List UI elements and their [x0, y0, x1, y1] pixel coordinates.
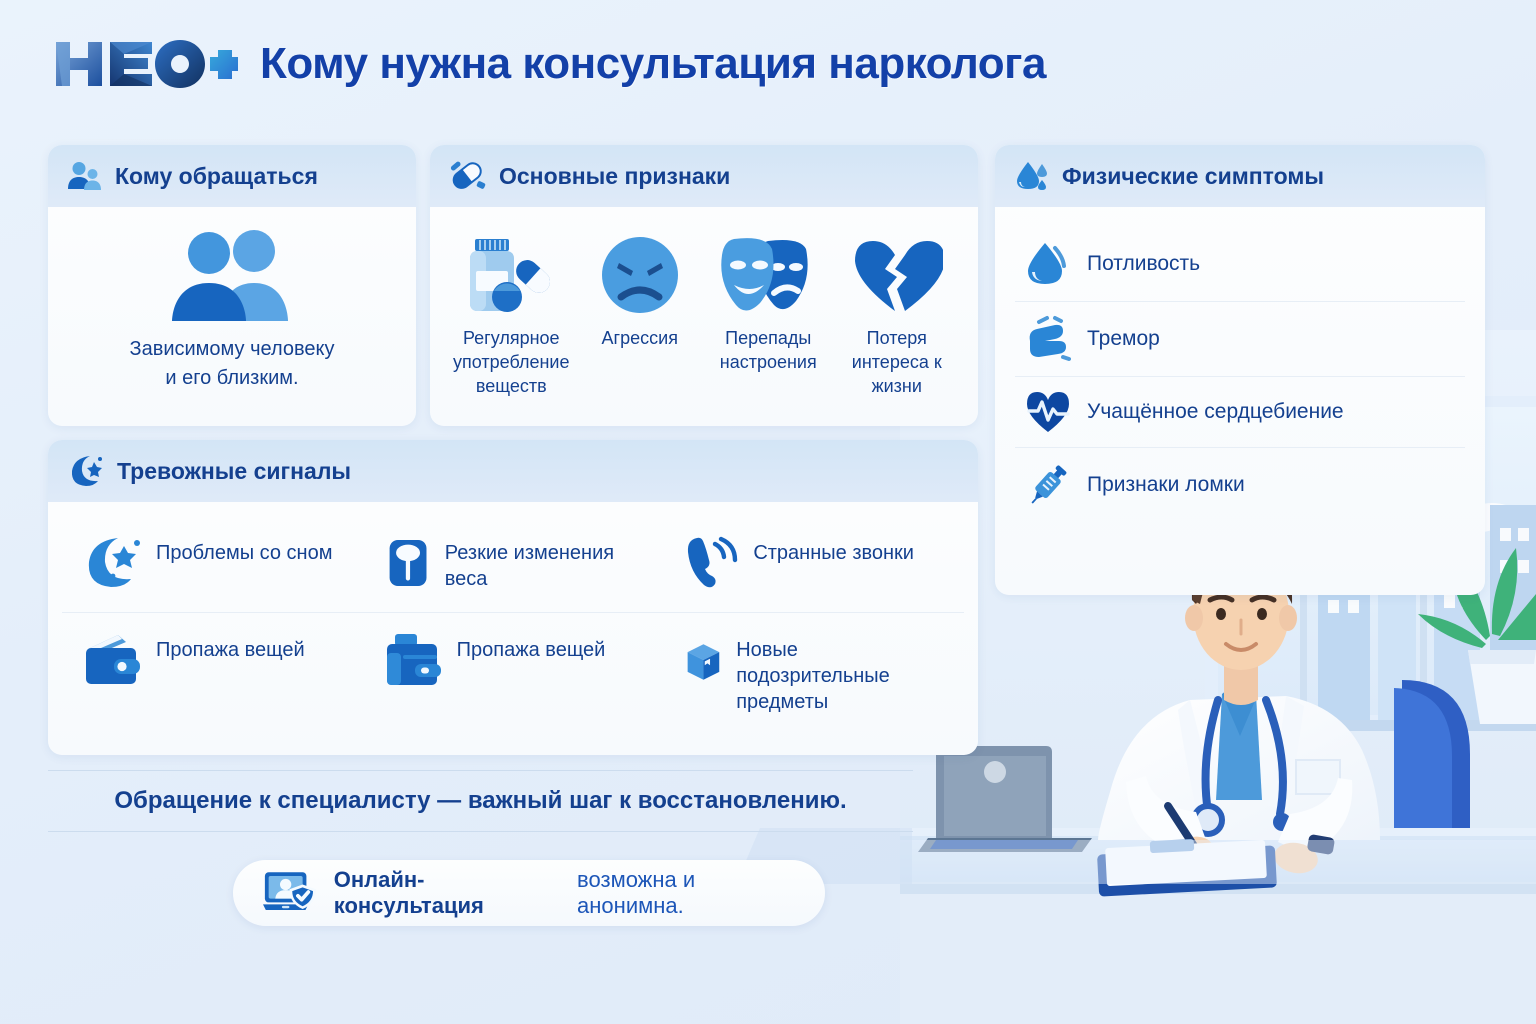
clipboard: [1097, 839, 1277, 897]
card-alerts-title: Тревожные сигналы: [117, 458, 351, 485]
list-item: Потливость: [1015, 227, 1465, 301]
logo-neo-plus-icon: [52, 36, 238, 92]
alert-label: Пропажа вещей: [457, 633, 606, 663]
wallet-icon: [84, 633, 142, 687]
card-physical-header: Физические симптомы: [995, 145, 1485, 207]
laptop: [918, 746, 1092, 852]
sign-item: Регулярное употребление веществ: [450, 235, 573, 398]
infographic-page: Кому нужна консультация нарколога Кому о…: [0, 0, 1536, 1024]
moon-stars-icon: [84, 536, 142, 590]
theater-masks-icon: [712, 235, 824, 315]
signs-grid: Регулярное употребление веществ Агрессия: [450, 223, 958, 398]
card-signs-title: Основные признаки: [499, 163, 730, 190]
card-alerts: Тревожные сигналы Проблемы со сном: [48, 440, 978, 755]
card-physical-body: Потливость Тремор: [995, 207, 1485, 538]
list-item: Тремор: [1015, 301, 1465, 376]
doctor-with-stethoscope: [1097, 544, 1380, 897]
card-alerts-header: Тревожные сигналы: [48, 440, 978, 502]
card-signs-body: Регулярное употребление веществ Агрессия: [430, 207, 978, 414]
heartbeat-icon: [1025, 390, 1071, 434]
sign-item: Агрессия: [579, 235, 702, 398]
pill-bottle-icon: [459, 235, 563, 315]
sign-label: Потеря интереса к жизни: [836, 327, 959, 398]
list-label: Признаки ломки: [1087, 472, 1245, 498]
page-header: Кому нужна консультация нарколога: [52, 36, 1046, 92]
people-icon: [68, 161, 102, 191]
alert-item: Резкие изменения веса: [363, 516, 664, 612]
angry-face-icon: [599, 235, 681, 315]
weight-scale-icon: [385, 536, 431, 590]
page-title: Кому нужна консультация нарколога: [260, 39, 1046, 89]
logo: [52, 36, 238, 92]
laptop-verified-icon: [263, 870, 318, 916]
pills-icon: [450, 160, 486, 192]
alert-item: Новые подозрительные предметы: [663, 612, 964, 735]
syringe-icon: [1025, 461, 1071, 509]
card-audience-body: Зависимому человекуи его близким.: [48, 207, 416, 409]
pill-bold-text: Онлайн-консультация: [334, 867, 561, 919]
physical-list: Потливость Тремор: [1015, 223, 1465, 522]
alert-label: Проблемы со сном: [156, 536, 332, 566]
pill-normal-text: возможна и анонимна.: [577, 867, 795, 919]
card-alerts-body: Проблемы со сном Резкие изменения веса: [48, 502, 978, 743]
card-signs: Основные признаки: [430, 145, 978, 426]
list-item: Признаки ломки: [1015, 447, 1465, 522]
list-item: Учащённое сердцебиение: [1015, 376, 1465, 447]
broken-heart-icon: [851, 235, 943, 315]
alert-item: Странные звонки: [663, 516, 964, 612]
alert-label: Новые подозрительные предметы: [736, 633, 946, 715]
list-label: Потливость: [1087, 251, 1200, 277]
alerts-grid: Проблемы со сном Резкие изменения веса: [62, 510, 964, 735]
card-signs-header: Основные признаки: [430, 145, 978, 207]
office-chair: [1394, 680, 1470, 840]
footer-tagline: Обращение к специалисту — важный шаг к в…: [114, 787, 846, 815]
crescent-moon-icon: [68, 454, 104, 488]
card-audience: Кому обращаться Зависимому человекуи его…: [48, 145, 416, 426]
footer-strip: Обращение к специалисту — важный шаг к в…: [48, 770, 913, 832]
two-people-icon: [168, 229, 296, 321]
alert-item: Пропажа вещей: [363, 612, 664, 735]
sign-item: Перепады настроения: [707, 235, 830, 398]
droplet-icon: [1025, 240, 1071, 288]
card-audience-text: Зависимому человекуи его близким.: [130, 335, 335, 393]
card-physical-title: Физические симптомы: [1062, 163, 1324, 190]
shaking-hand-icon: [1025, 315, 1071, 363]
alert-label: Резкие изменения веса: [445, 536, 646, 592]
desk: [900, 828, 1536, 1024]
list-label: Тремор: [1087, 326, 1160, 352]
alert-label: Пропажа вещей: [156, 633, 305, 663]
box-icon: [685, 633, 722, 691]
sign-label: Перепады настроения: [707, 327, 830, 375]
list-label: Учащённое сердцебиение: [1087, 399, 1344, 425]
alert-label: Странные звонки: [753, 536, 914, 566]
bag-icon: [385, 633, 443, 687]
alert-item: Пропажа вещей: [62, 612, 363, 735]
sign-item: Потеря интереса к жизни: [836, 235, 959, 398]
card-audience-header: Кому обращаться: [48, 145, 416, 207]
phone-ringing-icon: [685, 536, 739, 590]
online-consultation-pill[interactable]: Онлайн-консультация возможна и анонимна.: [233, 860, 825, 926]
card-audience-title: Кому обращаться: [115, 163, 318, 190]
card-physical: Физические симптомы Потливость: [995, 145, 1485, 595]
sign-label: Регулярное употребление веществ: [450, 327, 573, 398]
sign-label: Агрессия: [602, 327, 678, 351]
droplets-icon: [1015, 160, 1049, 192]
alert-item: Проблемы со сном: [62, 516, 363, 612]
